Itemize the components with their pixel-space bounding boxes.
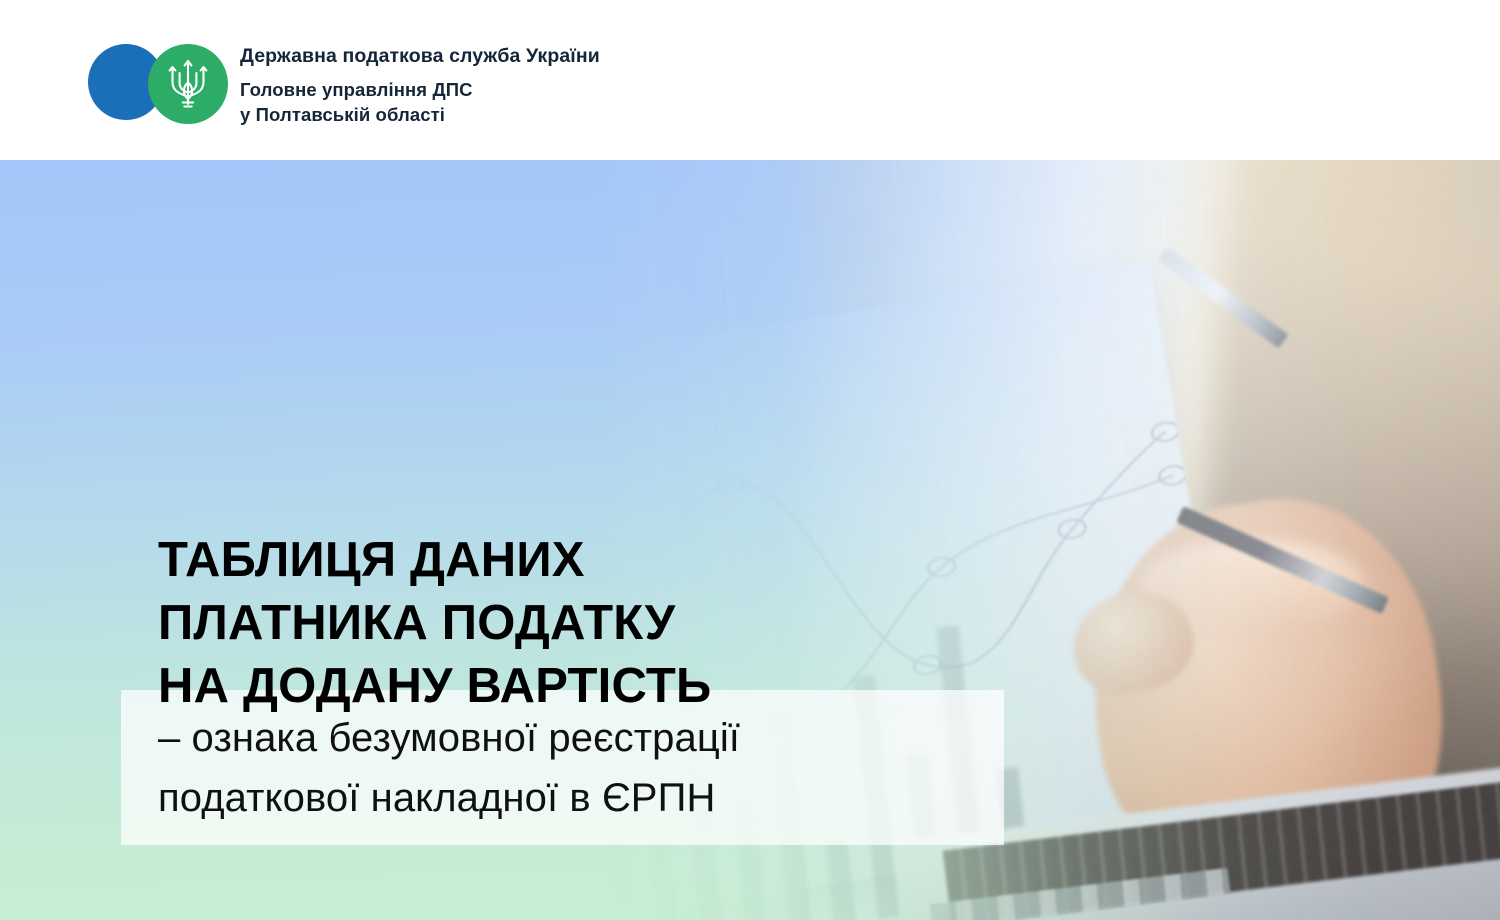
banner-page: Державна податкова служба України Головн… bbox=[0, 0, 1500, 920]
hero-banner: ТАБЛИЦЯ ДАНИХ ПЛАТНИКА ПОДАТКУ НА ДОДАНУ… bbox=[0, 160, 1500, 920]
header-org-text: Державна податкова служба України Головн… bbox=[240, 44, 600, 127]
headline-line-1: ТАБЛИЦЯ ДАНИХ bbox=[158, 529, 711, 592]
header-title-line-2: Головне управління ДПС bbox=[240, 77, 600, 102]
subtitle-line-1: – ознака безумовної реєстрації bbox=[158, 708, 740, 768]
page-title: ТАБЛИЦЯ ДАНИХ ПЛАТНИКА ПОДАТКУ НА ДОДАНУ… bbox=[158, 529, 711, 718]
headline-line-2: ПЛАТНИКА ПОДАТКУ bbox=[158, 592, 711, 655]
header-title-line-3: у Полтавській області bbox=[240, 102, 600, 127]
subtitle-line-2: податкової накладної в ЄРПН bbox=[158, 768, 740, 828]
dps-logo bbox=[88, 44, 228, 122]
header-title-line-1: Державна податкова служба України bbox=[240, 44, 600, 68]
site-header: Державна податкова служба України Головн… bbox=[0, 0, 1500, 160]
page-subtitle: – ознака безумовної реєстрації податково… bbox=[158, 708, 740, 828]
ukrainian-trident-icon bbox=[166, 58, 210, 110]
